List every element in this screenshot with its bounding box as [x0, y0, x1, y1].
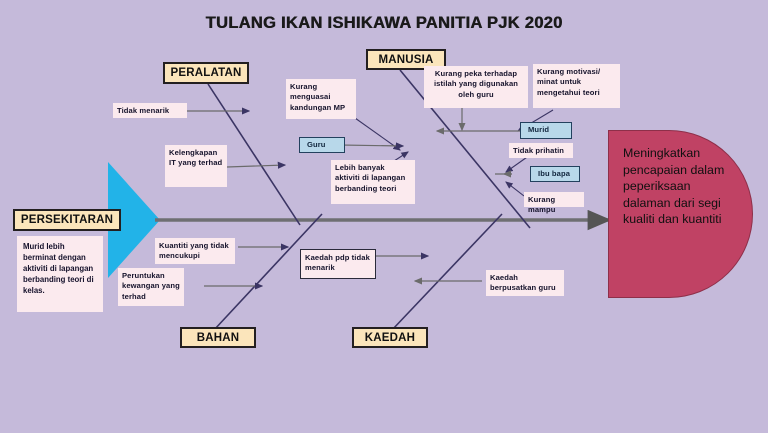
effect-statement: Meningkatkan pencapaian dalam peperiksaa… [608, 130, 753, 298]
note-manusia-tidak-prihatin: Tidak prihatin [509, 143, 573, 158]
arrow-manusia-6 [506, 182, 524, 196]
note-manusia-kurang-menguasai: Kurang menguasai kandungan MP [286, 79, 356, 119]
note-kaedah-berpusatkan-guru: Kaedah berpusatkan guru [486, 270, 564, 296]
note-bahan-kuantiti: Kuantiti yang tidak mencukupi [155, 238, 235, 264]
note-bahan-peruntukan: Peruntukan kewangan yang terhad [118, 268, 184, 306]
note-kaedah-pdp-tidak-menarik: Kaedah pdp tidak menarik [300, 249, 376, 279]
category-label-kaedah[interactable]: KAEDAH [352, 327, 428, 348]
note-manusia-murid: Murid [520, 122, 572, 139]
category-label-bahan[interactable]: BAHAN [180, 327, 256, 348]
note-manusia-kurang-motivasi: Kurang motivasi/ minat untuk mengetahui … [533, 64, 620, 108]
note-manusia-kurang-mampu: Kurang mampu [524, 192, 584, 207]
note-manusia-kurang-peka: Kurang peka terhadap istilah yang diguna… [424, 66, 528, 108]
category-label-peralatan[interactable]: PERALATAN [163, 62, 249, 84]
category-label-persekitaran[interactable]: PERSEKITARAN [13, 209, 121, 231]
note-persekitaran-detail: Murid lebih berminat dengan aktiviti di … [17, 236, 103, 312]
note-peralatan-kelengkapan-it: Kelengkapan IT yang terhad [165, 145, 227, 187]
note-manusia-ibu-bapa: Ibu bapa [530, 166, 580, 182]
page-title: TULANG IKAN ISHIKAWA PANITIA PJK 2020 [0, 14, 768, 33]
arrow-peralatan-2 [227, 165, 285, 167]
note-manusia-lebih-banyak-aktiviti: Lebih banyak aktiviti di lapangan berban… [331, 160, 415, 204]
arrow-manusia-1 [355, 118, 400, 150]
note-peralatan-tidak-menarik: Tidak menarik [113, 103, 187, 118]
note-manusia-guru: Guru [299, 137, 345, 153]
arrow-guru-to-bone [340, 145, 403, 146]
fishbone-diagram-canvas: TULANG IKAN ISHIKAWA PANITIA PJK 2020 PE… [0, 0, 768, 433]
